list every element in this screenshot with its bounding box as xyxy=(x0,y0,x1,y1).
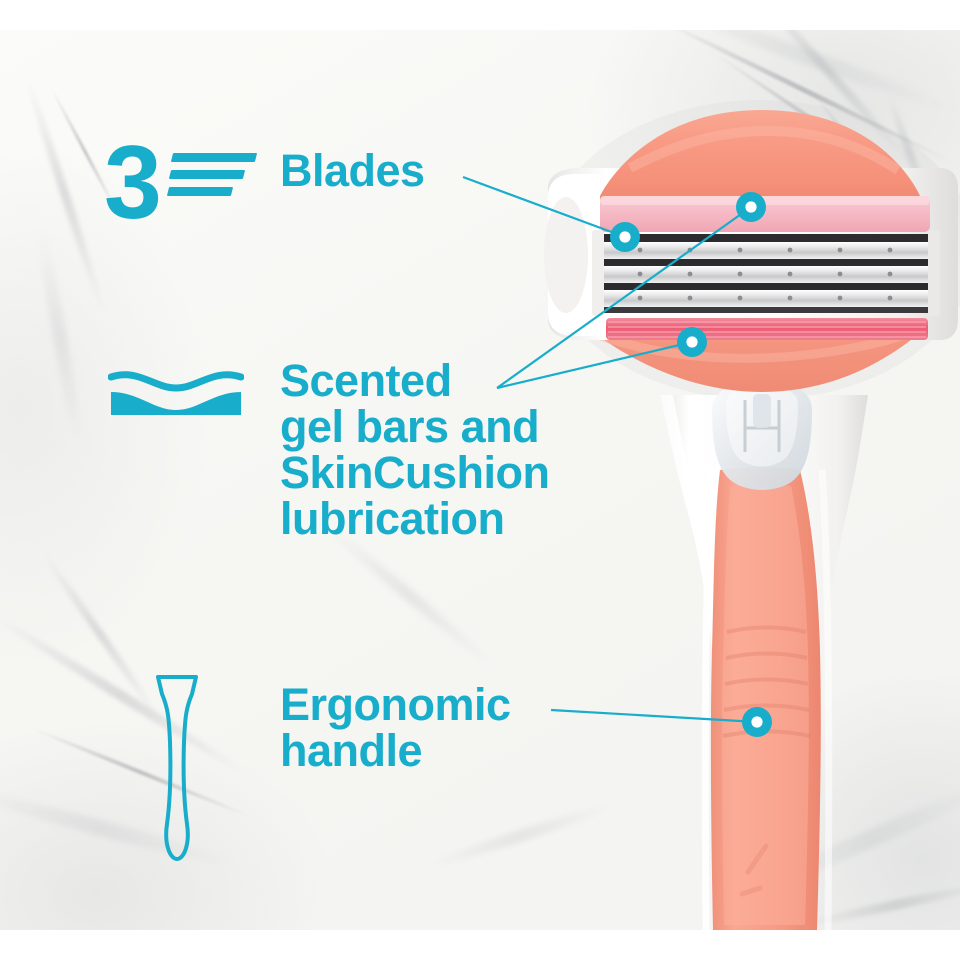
feature-label-handle: Ergonomic handle xyxy=(280,682,511,774)
razor-blade-stack xyxy=(594,234,938,313)
feature-label-gel-bars: Scented gel bars and SkinCushion lubrica… xyxy=(280,358,550,542)
blade-line xyxy=(171,153,257,162)
handle-outline-icon xyxy=(148,672,206,864)
feature-label-blades: Blades xyxy=(280,148,425,194)
blade-line xyxy=(167,187,233,196)
wave-gel-bar-icon xyxy=(108,366,244,418)
blade-line xyxy=(169,170,245,179)
three-blades-icon: 3 xyxy=(104,139,254,247)
infographic-canvas: 3 Blades Scented gel bars and SkinCushio… xyxy=(0,0,960,960)
blade-count-numeral: 3 xyxy=(104,131,160,235)
